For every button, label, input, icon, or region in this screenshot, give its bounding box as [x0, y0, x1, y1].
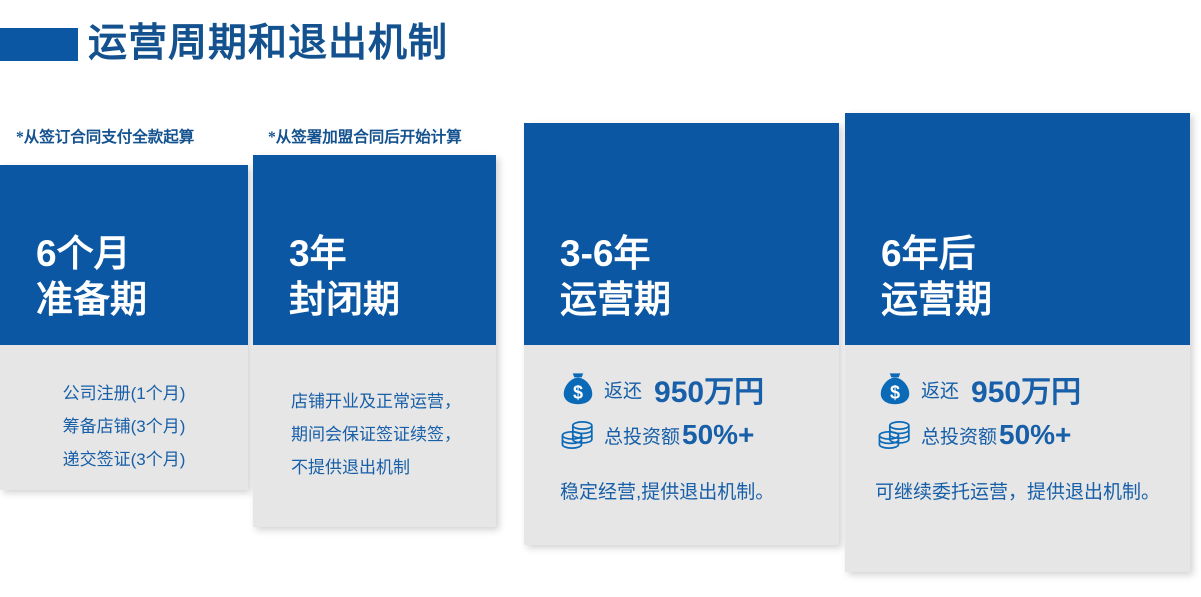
card-head-line-2: 准备期 [36, 277, 147, 323]
page-header: 运营周期和退出机制 [0, 10, 1201, 80]
metric-value: 50%+ [999, 419, 1071, 451]
phase-card-preparation[interactable]: 6个月 准备期 公司注册(1个月) 筹备店铺(3个月) 递交签证(3个月) [0, 165, 248, 490]
card-body: $ 返还 950万円 [845, 345, 1190, 506]
card-metrics: $ 返还 950万円 [845, 345, 1190, 506]
card-header: 6年后 运营期 [845, 113, 1190, 345]
metric-label: 返还 [604, 376, 642, 403]
card-head-line-1: 6个月 [36, 231, 147, 277]
list-item: 店铺开业及正常运营， [291, 385, 496, 418]
card-note: 可继续委托运营，提供退出机制。 [845, 457, 1190, 506]
money-bag-icon: $ [556, 367, 600, 411]
card-body-lines: 店铺开业及正常运营， 期间会保证签证续签， 不提供退出机制 [253, 345, 496, 484]
list-item: 递交签证(3个月) [0, 443, 248, 476]
list-item: 期间会保证签证续签， [291, 418, 496, 451]
footnote-card-1: *从签订合同支付全款起算 [16, 128, 194, 148]
card-header: 3年 封闭期 [253, 155, 496, 345]
card-body-lines: 公司注册(1个月) 筹备店铺(3个月) 递交签证(3个月) [0, 345, 248, 476]
svg-text:$: $ [573, 383, 583, 403]
metric-row-total-investment: 总投资额 50%+ [845, 413, 1190, 457]
card-body: $ 返还 950万円 [524, 345, 839, 506]
metric-label: 总投资额 [921, 422, 997, 449]
metric-row-refund: $ 返还 950万円 [845, 367, 1190, 411]
card-head-line-1: 6年后 [881, 231, 992, 277]
coin-stack-icon [873, 413, 917, 457]
card-head-line-1: 3-6年 [560, 231, 671, 277]
metric-value: 50%+ [682, 419, 754, 451]
metric-label: 返还 [921, 376, 959, 403]
card-header-text: 6年后 运营期 [881, 231, 992, 323]
phase-card-operation-3-6[interactable]: 3-6年 运营期 $ 返还 950万円 [524, 123, 839, 545]
title-accent-bar [0, 28, 78, 61]
metric-row-refund: $ 返还 950万円 [524, 367, 839, 411]
card-body: 公司注册(1个月) 筹备店铺(3个月) 递交签证(3个月) [0, 345, 248, 476]
metric-label: 总投资额 [604, 422, 680, 449]
card-header: 3-6年 运营期 [524, 123, 839, 345]
card-head-line-2: 运营期 [560, 277, 671, 323]
card-header-text: 6个月 准备期 [36, 231, 147, 323]
card-note: 稳定经营,提供退出机制。 [524, 457, 839, 506]
list-item: 筹备店铺(3个月) [0, 410, 248, 443]
phase-card-operation-after-6[interactable]: 6年后 运营期 $ 返还 950万円 [845, 113, 1190, 572]
card-metrics: $ 返还 950万円 [524, 345, 839, 506]
metric-value: 950万円 [654, 367, 764, 411]
card-head-line-1: 3年 [289, 231, 400, 277]
card-body: 店铺开业及正常运营， 期间会保证签证续签， 不提供退出机制 [253, 345, 496, 484]
card-header-text: 3年 封闭期 [289, 231, 400, 323]
metric-row-total-investment: 总投资额 50%+ [524, 413, 839, 457]
card-header-text: 3-6年 运营期 [560, 231, 671, 323]
svg-text:$: $ [890, 383, 900, 403]
list-item: 不提供退出机制 [291, 451, 496, 484]
page-title: 运营周期和退出机制 [88, 18, 448, 70]
card-head-line-2: 运营期 [881, 277, 992, 323]
card-header: 6个月 准备期 [0, 165, 248, 345]
metric-value: 950万円 [971, 367, 1081, 411]
card-head-line-2: 封闭期 [289, 277, 400, 323]
list-item: 公司注册(1个月) [0, 377, 248, 410]
coin-stack-icon [556, 413, 600, 457]
footnote-card-2: *从签署加盟合同后开始计算 [268, 128, 462, 148]
phase-card-lockup[interactable]: 3年 封闭期 店铺开业及正常运营， 期间会保证签证续签， 不提供退出机制 [253, 155, 496, 527]
money-bag-icon: $ [873, 367, 917, 411]
